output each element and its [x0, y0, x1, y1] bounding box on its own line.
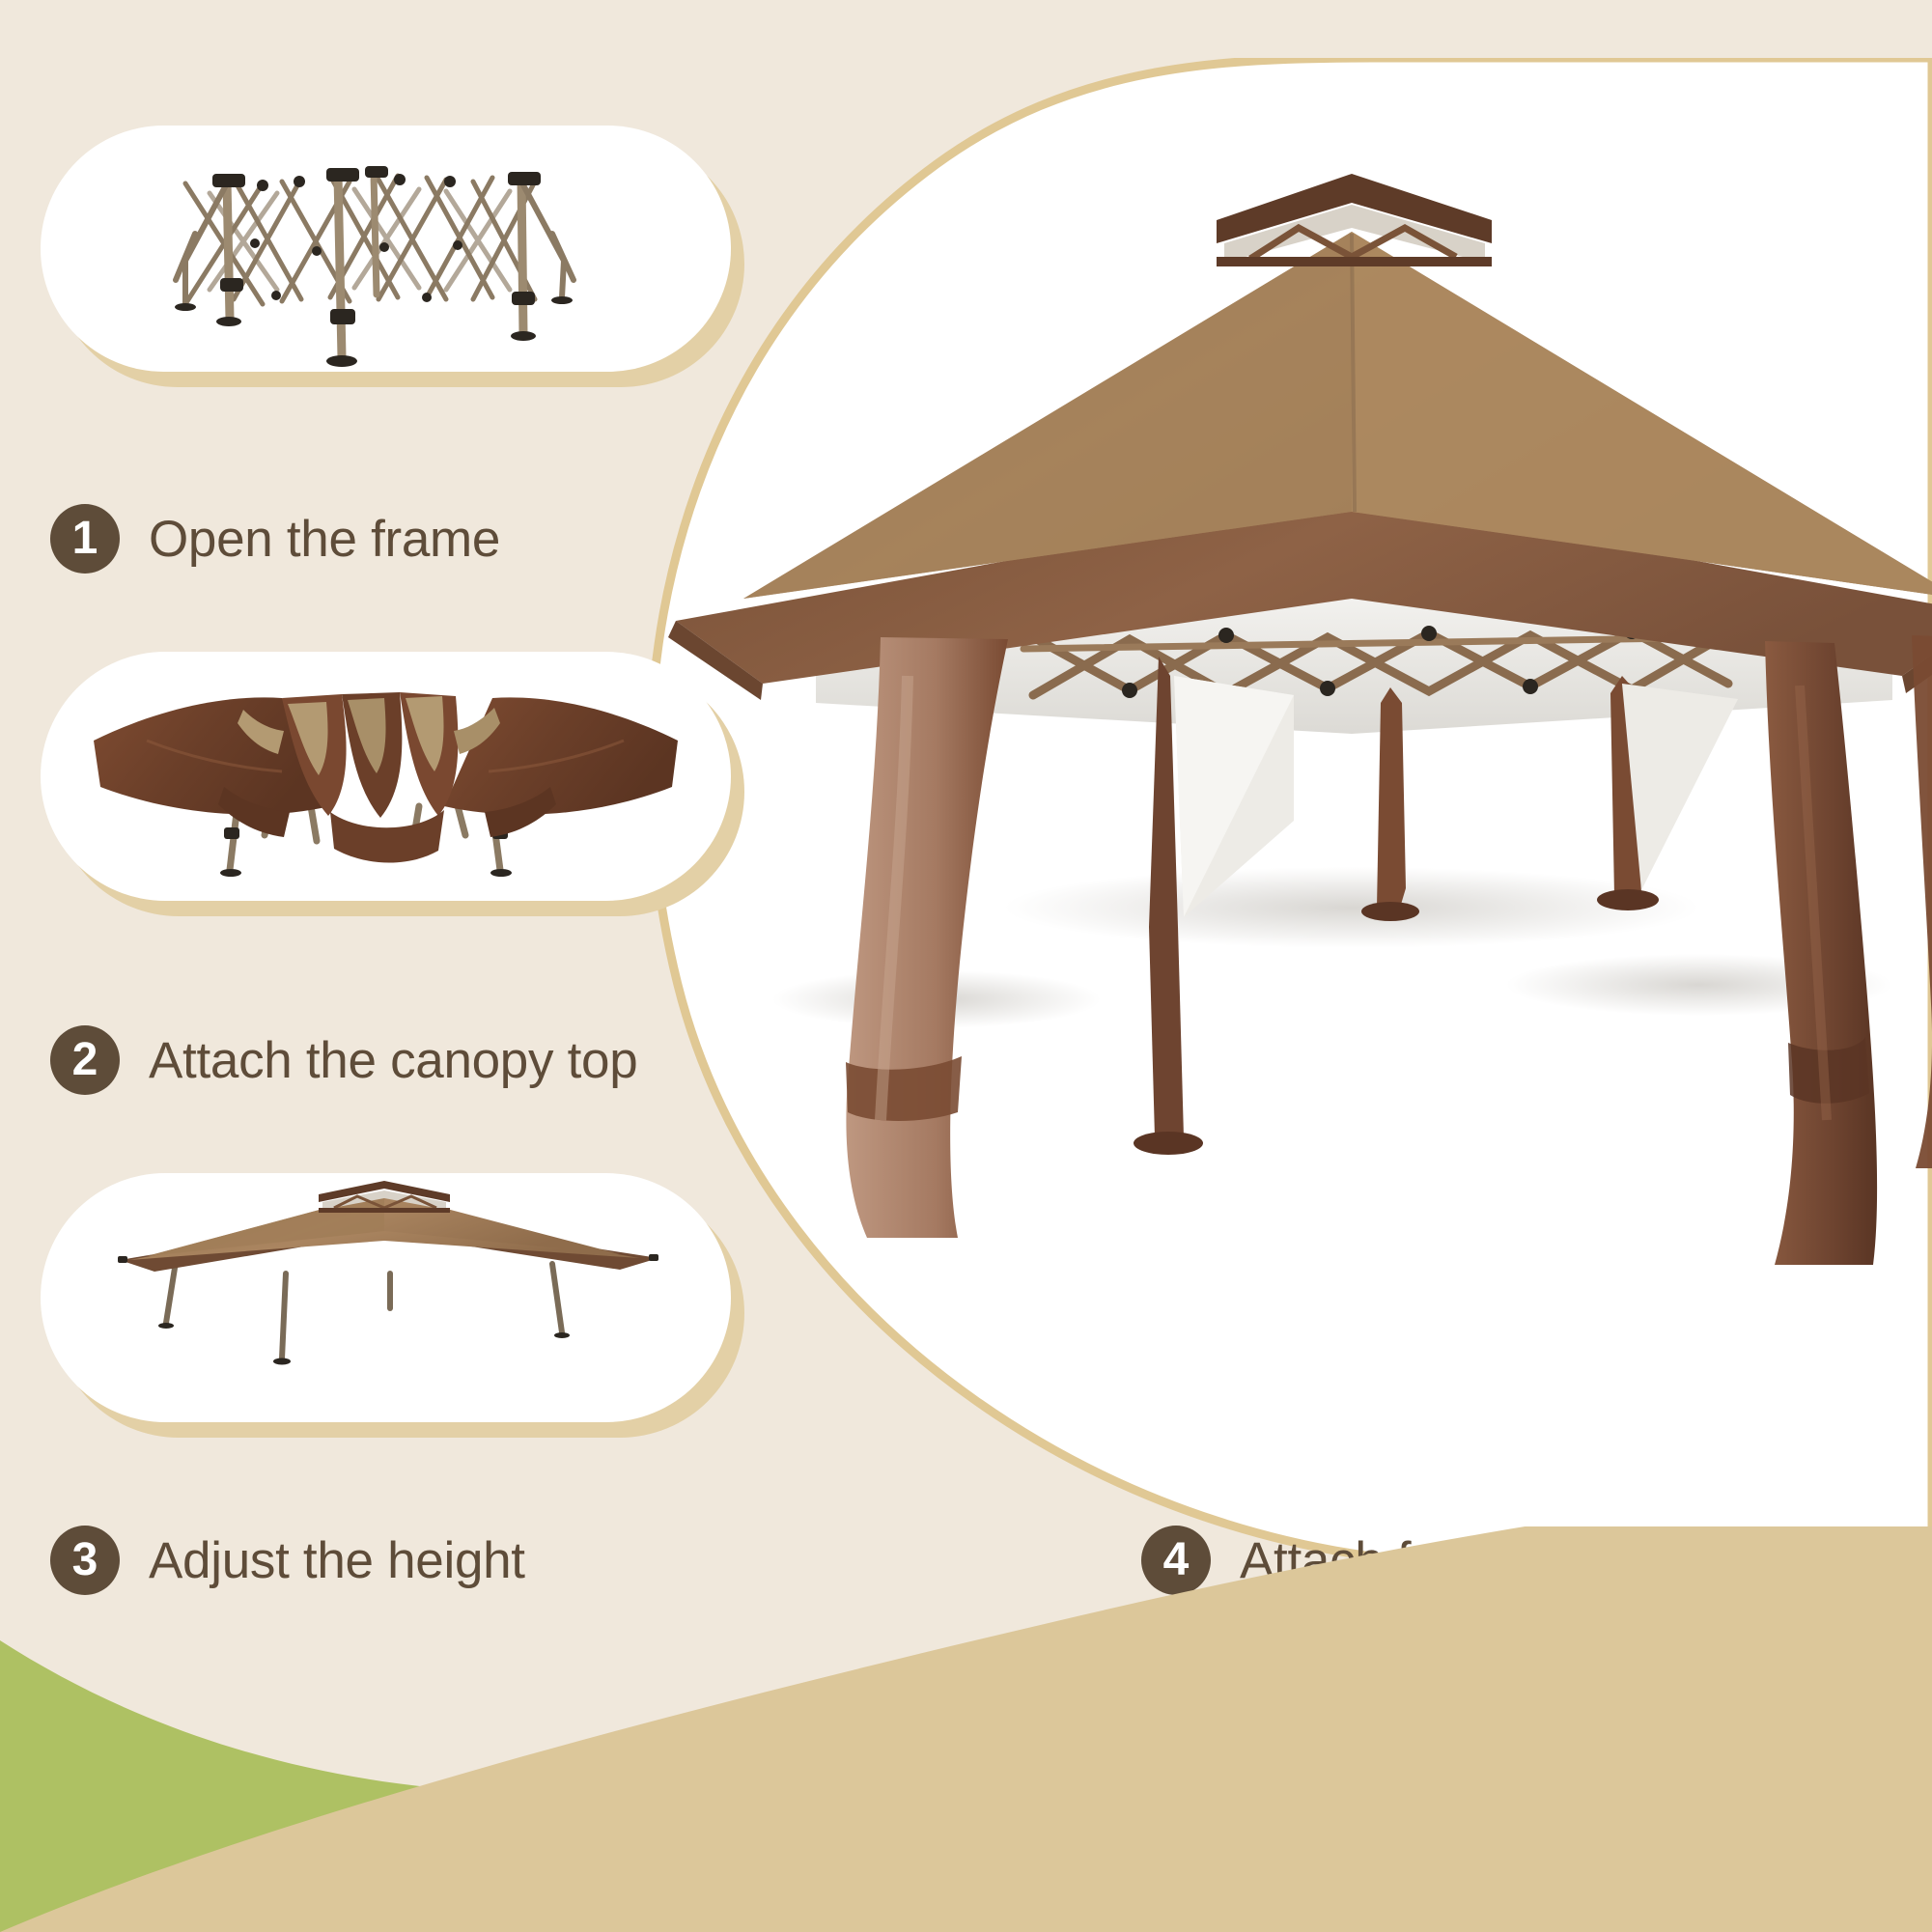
card-plate [41, 652, 731, 901]
step-4-caption: 4 Attach four comer curtains [1141, 1526, 1830, 1595]
step-3-caption: 3 Adjust the height [50, 1526, 525, 1595]
card-plate [41, 1173, 731, 1422]
step-1-badge: 1 [50, 504, 120, 574]
infographic-canvas: 1 Open the frame 2 Attach the canopy top… [0, 0, 1932, 1932]
step-2-badge: 2 [50, 1025, 120, 1095]
step-1-caption: 1 Open the frame [50, 504, 500, 574]
step-1-label: Open the frame [149, 510, 500, 569]
card-plate [41, 126, 731, 372]
step-2-canopy-photo [41, 652, 731, 901]
step-1-frame-photo [41, 126, 731, 372]
step-4-hero-photo [618, 58, 1932, 1564]
step-4-label: Attach four comer curtains [1240, 1531, 1830, 1590]
step-2-caption: 2 Attach the canopy top [50, 1025, 637, 1095]
step-4-hero-panel [618, 58, 1932, 1564]
step-3-badge: 3 [50, 1526, 120, 1595]
step-1-card [41, 126, 731, 372]
step-3-card [41, 1173, 731, 1422]
step-3-height-photo [41, 1173, 731, 1422]
step-2-card [41, 652, 731, 901]
step-3-label: Adjust the height [149, 1531, 525, 1590]
step-2-label: Attach the canopy top [149, 1031, 637, 1090]
step-4-badge: 4 [1141, 1526, 1211, 1595]
